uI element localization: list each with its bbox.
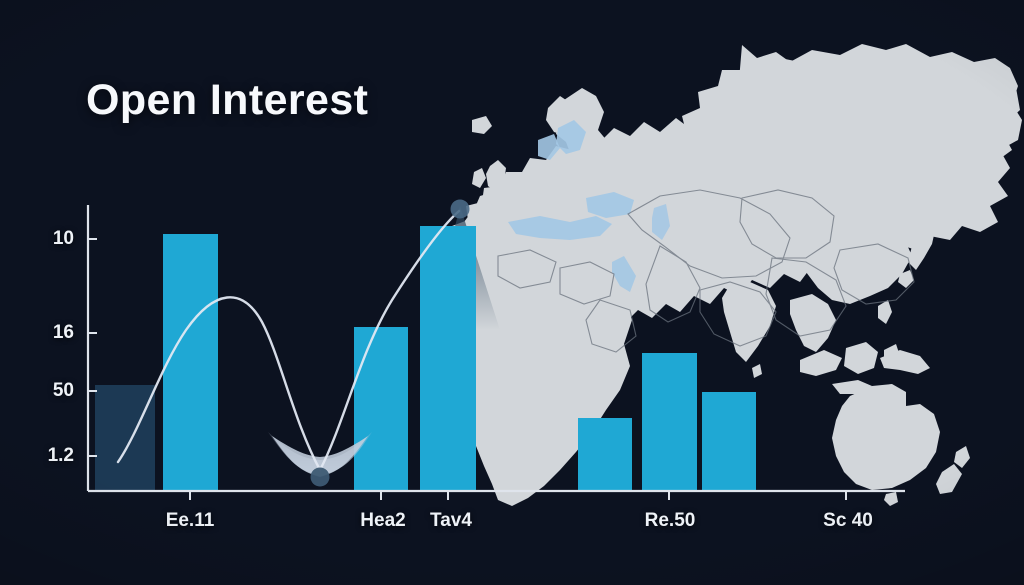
y-tick-label-3: 1.2 bbox=[30, 445, 74, 467]
x-tick-label-0: Ee.11 bbox=[166, 510, 215, 532]
bar-group bbox=[95, 226, 756, 491]
peak-marker[interactable] bbox=[451, 200, 470, 219]
x-tick-marks bbox=[190, 491, 846, 500]
bar-5[interactable] bbox=[578, 418, 632, 491]
bar-6[interactable] bbox=[642, 353, 697, 491]
y-tick-label-1: 16 bbox=[36, 322, 74, 344]
y-tick-label-0: 10 bbox=[36, 228, 74, 250]
bar-3[interactable] bbox=[354, 327, 408, 491]
chart-canvas: Open Interest bbox=[0, 0, 1024, 585]
y-tick-label-2: 50 bbox=[36, 380, 74, 402]
x-tick-label-4: Sc 40 bbox=[823, 510, 873, 532]
x-tick-label-1: Hea2 bbox=[360, 510, 405, 532]
bar-4[interactable] bbox=[420, 226, 476, 491]
x-tick-label-2: Tav4 bbox=[430, 510, 472, 532]
bar-7[interactable] bbox=[702, 392, 756, 491]
trough-marker[interactable] bbox=[311, 468, 330, 487]
chart-title: Open Interest bbox=[86, 76, 368, 125]
bar-1[interactable] bbox=[95, 385, 155, 491]
bar-2[interactable] bbox=[163, 234, 218, 491]
x-tick-label-3: Re.50 bbox=[645, 510, 696, 532]
